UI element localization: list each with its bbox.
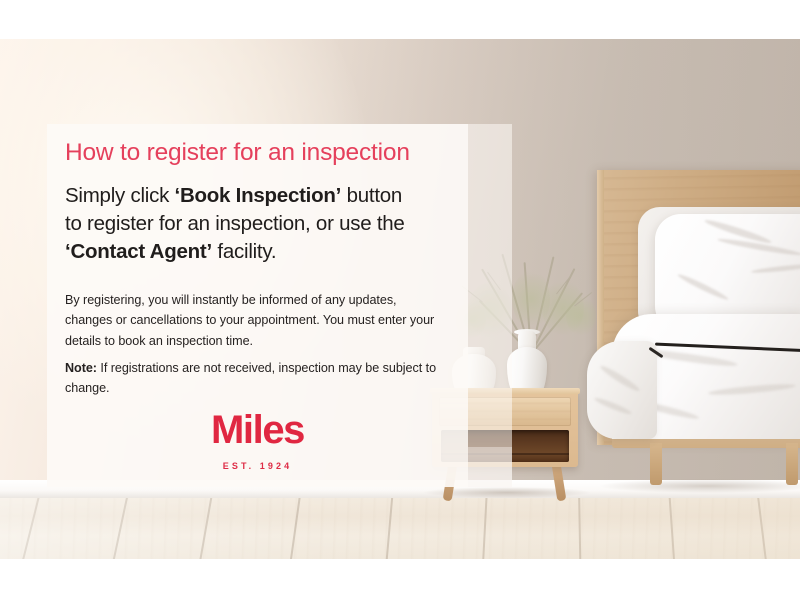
letterbox-top <box>0 0 800 39</box>
bed-floor-shadow <box>600 479 800 493</box>
note-label: Note: <box>65 361 97 375</box>
subhead-line1-suffix: button <box>341 184 402 207</box>
book-inspection-label: ‘Book Inspection’ <box>175 184 342 207</box>
card-translucent-extension <box>468 124 512 487</box>
info-card: How to register for an inspection Simply… <box>47 124 468 487</box>
screenshot-canvas: How to register for an inspection Simply… <box>0 0 800 600</box>
brand-logo: Miles EST. 1924 <box>47 410 468 471</box>
page-title: How to register for an inspection <box>65 138 457 167</box>
wood-floor <box>0 498 800 559</box>
subhead-line3-suffix: facility. <box>212 240 276 263</box>
floor-sheen <box>0 498 800 559</box>
card-translucent-extension-lower <box>468 447 512 487</box>
logo-wordmark: Miles <box>47 410 468 450</box>
contact-agent-label: ‘Contact Agent’ <box>65 240 212 263</box>
note-text: If registrations are not received, inspe… <box>65 361 436 395</box>
subhead-line1-prefix: Simply click <box>65 184 175 207</box>
info-card-content: How to register for an inspection Simply… <box>47 124 468 487</box>
letterbox-bottom <box>0 559 800 600</box>
bed-leg <box>650 443 662 485</box>
body-paragraph-note: Note: If registrations are not received,… <box>65 358 445 399</box>
duvet-left-drape <box>587 341 657 439</box>
bedroom-photo: How to register for an inspection Simply… <box>0 39 800 559</box>
logo-established: EST. 1924 <box>47 461 468 471</box>
bed-leg <box>786 443 798 485</box>
subhead-line2: to register for an inspection, or use th… <box>65 212 405 235</box>
instruction-subhead: Simply click ‘Book Inspection’ button to… <box>65 182 457 266</box>
body-paragraph-registering: By registering, you will instantly be in… <box>65 290 445 351</box>
